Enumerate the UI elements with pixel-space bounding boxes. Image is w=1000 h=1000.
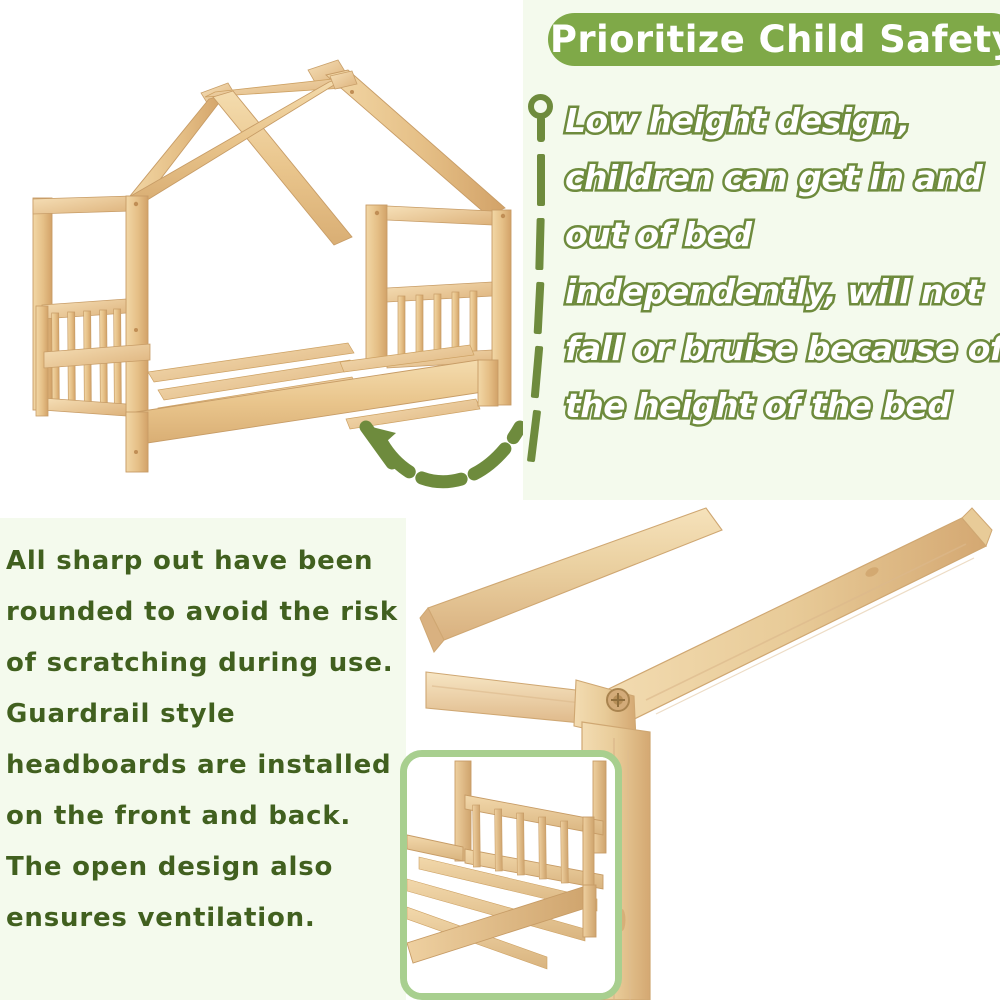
dash-segment	[531, 346, 544, 398]
safety-paragraph: All sharp out have been rounded to avoid…	[6, 536, 406, 944]
paragraph-line: of scratching during use.	[6, 638, 406, 689]
paragraph-line: rounded to avoid the risk	[6, 587, 406, 638]
paragraph-line: All sharp out have been	[6, 536, 406, 587]
guardrail-inset-photo	[400, 750, 622, 1000]
pin-stem	[537, 116, 545, 142]
dash-segment	[527, 410, 541, 463]
infographic-stage: Prioritize Child Safety Low height desig…	[0, 0, 1000, 1000]
paragraph-line: headboards are installed	[6, 740, 406, 791]
paragraph-line: Guardrail style	[6, 689, 406, 740]
paragraph-line: ensures ventilation.	[6, 893, 406, 944]
callout-text: Low height design, children can get in a…	[565, 92, 1000, 434]
main-product-photo	[0, 0, 523, 518]
guardrail-closeup-illustration	[407, 757, 615, 993]
callout-block: Low height design, children can get in a…	[525, 92, 1000, 484]
dash-segment	[534, 282, 545, 334]
dash-segment	[535, 218, 544, 270]
pin-marker-column	[525, 92, 559, 482]
header-banner: Prioritize Child Safety	[548, 13, 1000, 66]
paragraph-line: on the front and back.	[6, 791, 406, 842]
callout-line: the height of the bed	[565, 377, 1000, 434]
callout-line: Low height design,	[565, 92, 1000, 149]
banner-title: Prioritize Child Safety	[550, 21, 1000, 58]
callout-line: independently, will not	[565, 263, 1000, 320]
callout-line: out of bed	[565, 206, 1000, 263]
paragraph-line: The open design also	[6, 842, 406, 893]
callout-line: children can get in and	[565, 149, 1000, 206]
callout-line: fall or bruise because of	[565, 320, 1000, 377]
dash-segment	[537, 154, 545, 206]
